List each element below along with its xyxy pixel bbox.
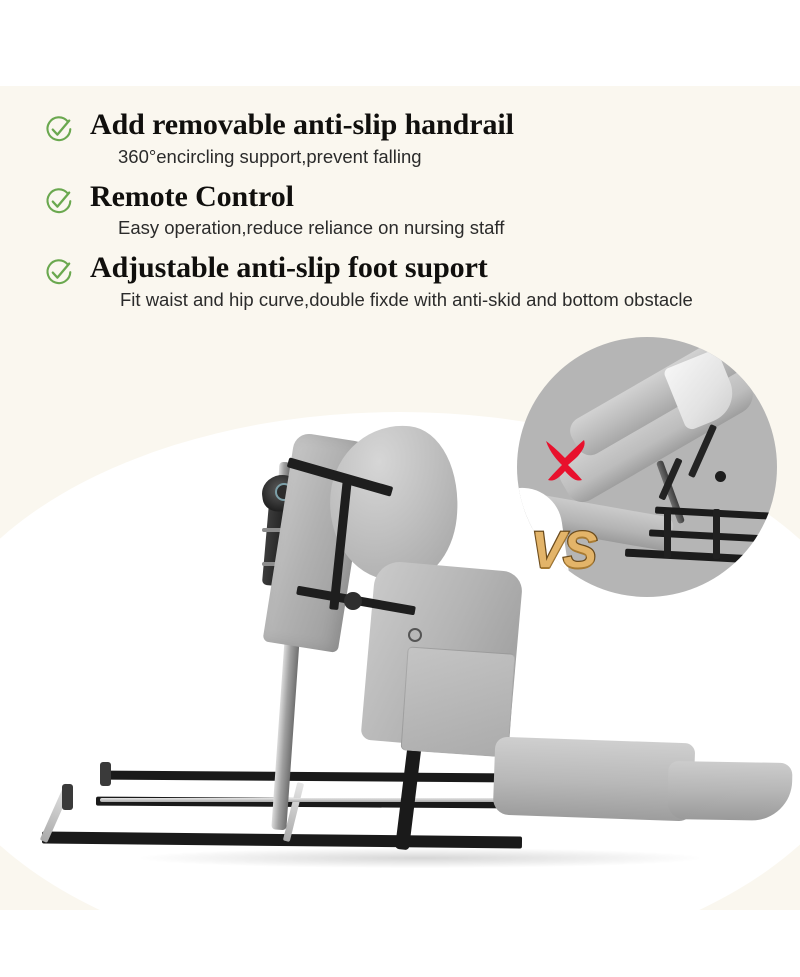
strap-pivot-knob [344, 592, 362, 610]
frame-rail-front [42, 831, 522, 848]
feature-item-handrail: Add removable anti-slip handrail 360°enc… [44, 108, 758, 169]
feature-subtitle: 360°encircling support,prevent falling [118, 145, 758, 169]
feature-heading: Adjustable anti-slip foot suport [90, 251, 758, 285]
frame-rail-back [104, 771, 504, 783]
feature-list: Add removable anti-slip handrail 360°enc… [44, 108, 758, 312]
feature-item-foot-support: Adjustable anti-slip foot suport Fit wai… [44, 251, 758, 312]
frame-pivot-bolt [408, 628, 422, 642]
vs-badge-label: VS [531, 524, 595, 575]
product-illustration [0, 400, 800, 900]
frame-crossbar [100, 798, 510, 802]
feature-item-remote-control: Remote Control Easy operation,reduce rel… [44, 180, 758, 241]
frame-foot-cap-left [62, 784, 73, 810]
product-ground-shadow [140, 848, 700, 868]
feature-heading: Remote Control [90, 180, 758, 214]
feature-subtitle: Easy operation,reduce reliance on nursin… [118, 216, 758, 240]
product-feature-infographic: Add removable anti-slip handrail 360°enc… [0, 0, 800, 977]
background-top-white-band [0, 0, 800, 86]
check-circle-icon [44, 115, 74, 145]
check-circle-icon [44, 258, 74, 288]
anti-slip-foot-support [668, 761, 793, 821]
check-circle-icon [44, 187, 74, 217]
seat-cushion [493, 737, 696, 822]
frame-foot-cap-right [100, 762, 111, 786]
background-bottom-white-band [0, 910, 800, 977]
feature-heading: Add removable anti-slip handrail [90, 108, 758, 142]
feature-subtitle: Fit waist and hip curve,double fixde wit… [120, 288, 758, 312]
